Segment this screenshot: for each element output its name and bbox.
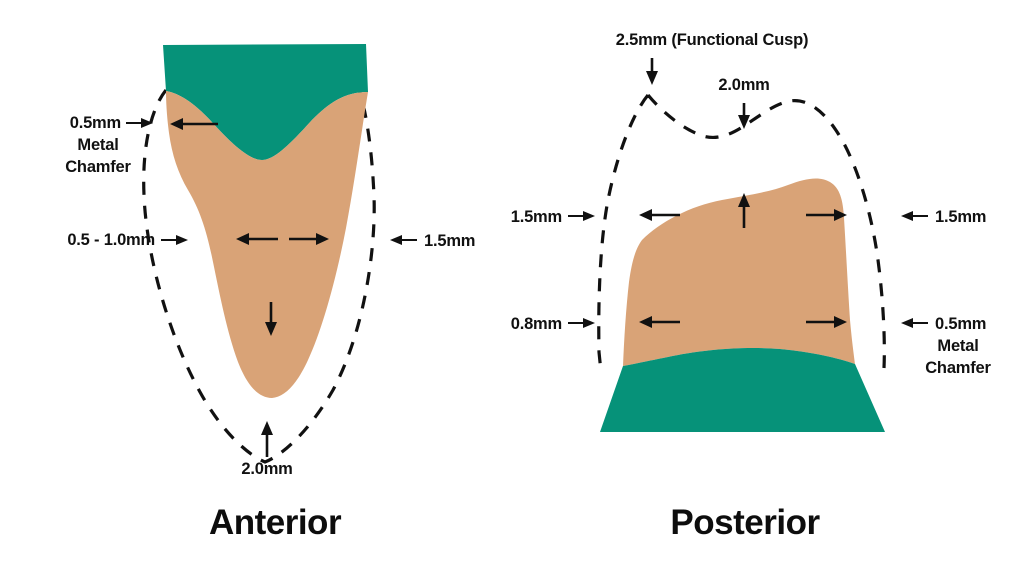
posterior-chamfer-label-line3: Chamfer <box>925 359 991 377</box>
anterior-axial-depth-text: 0.5 - 1.0mm <box>67 231 155 249</box>
posterior-functional-cusp-label: 2.5mm (Functional Cusp) <box>616 31 809 85</box>
posterior-panel-title: Posterior <box>670 503 820 542</box>
posterior-metal-chamfer-label: 0.5mm Metal Chamfer <box>901 315 992 377</box>
posterior-occlusal-text: 2.0mm <box>718 76 769 94</box>
posterior-occlusal-label: 2.0mm <box>718 76 769 129</box>
posterior-left-upper-label: 1.5mm <box>511 208 595 226</box>
anterior-axial-depth-label: 0.5 - 1.0mm <box>67 231 188 249</box>
posterior-left-upper-text: 1.5mm <box>511 208 562 226</box>
posterior-functional-cusp-text: 2.5mm (Functional Cusp) <box>616 31 809 49</box>
dental-reduction-diagram: 0.5mm Metal Chamfer 0.5 - 1.0mm <box>0 0 1024 566</box>
posterior-chamfer-label-line1: 0.5mm <box>935 315 986 333</box>
posterior-right-upper-text: 1.5mm <box>935 208 986 226</box>
posterior-functional-cusp-leader-arrow <box>646 58 658 85</box>
figure-canvas: 0.5mm Metal Chamfer 0.5 - 1.0mm <box>0 0 1024 566</box>
posterior-right-upper-label: 1.5mm <box>901 208 986 226</box>
anterior-panel-title: Anterior <box>209 503 342 542</box>
posterior-left-lower-label: 0.8mm <box>511 315 595 333</box>
posterior-left-lower-text: 0.8mm <box>511 315 562 333</box>
posterior-panel: 2.5mm (Functional Cusp) 2.0mm 1.5mm <box>511 31 992 542</box>
anterior-chamfer-label-line2: Metal <box>77 136 118 154</box>
anterior-chamfer-label-line3: Chamfer <box>65 158 131 176</box>
anterior-chamfer-leader-arrow <box>126 118 153 128</box>
posterior-left-upper-leader-arrow <box>568 211 595 221</box>
anterior-metal-chamfer-label: 0.5mm Metal Chamfer <box>65 114 153 176</box>
anterior-incisal-callout-arrow <box>261 421 273 457</box>
anterior-facial-depth-label: 1.5mm <box>390 232 475 250</box>
anterior-panel: 0.5mm Metal Chamfer 0.5 - 1.0mm <box>65 44 475 542</box>
posterior-left-lower-leader-arrow <box>568 318 595 328</box>
posterior-chamfer-label-line2: Metal <box>937 337 978 355</box>
posterior-right-upper-leader-arrow <box>901 211 928 221</box>
anterior-facial-depth-text: 1.5mm <box>424 232 475 250</box>
posterior-chamfer-leader-arrow <box>901 318 928 328</box>
anterior-axial-leader-arrow <box>161 235 188 245</box>
anterior-facial-leader-arrow <box>390 235 417 245</box>
posterior-occlusal-leader-arrow <box>738 103 750 129</box>
anterior-incisal-depth-text: 2.0mm <box>241 460 292 478</box>
anterior-chamfer-label-line1: 0.5mm <box>70 114 121 132</box>
